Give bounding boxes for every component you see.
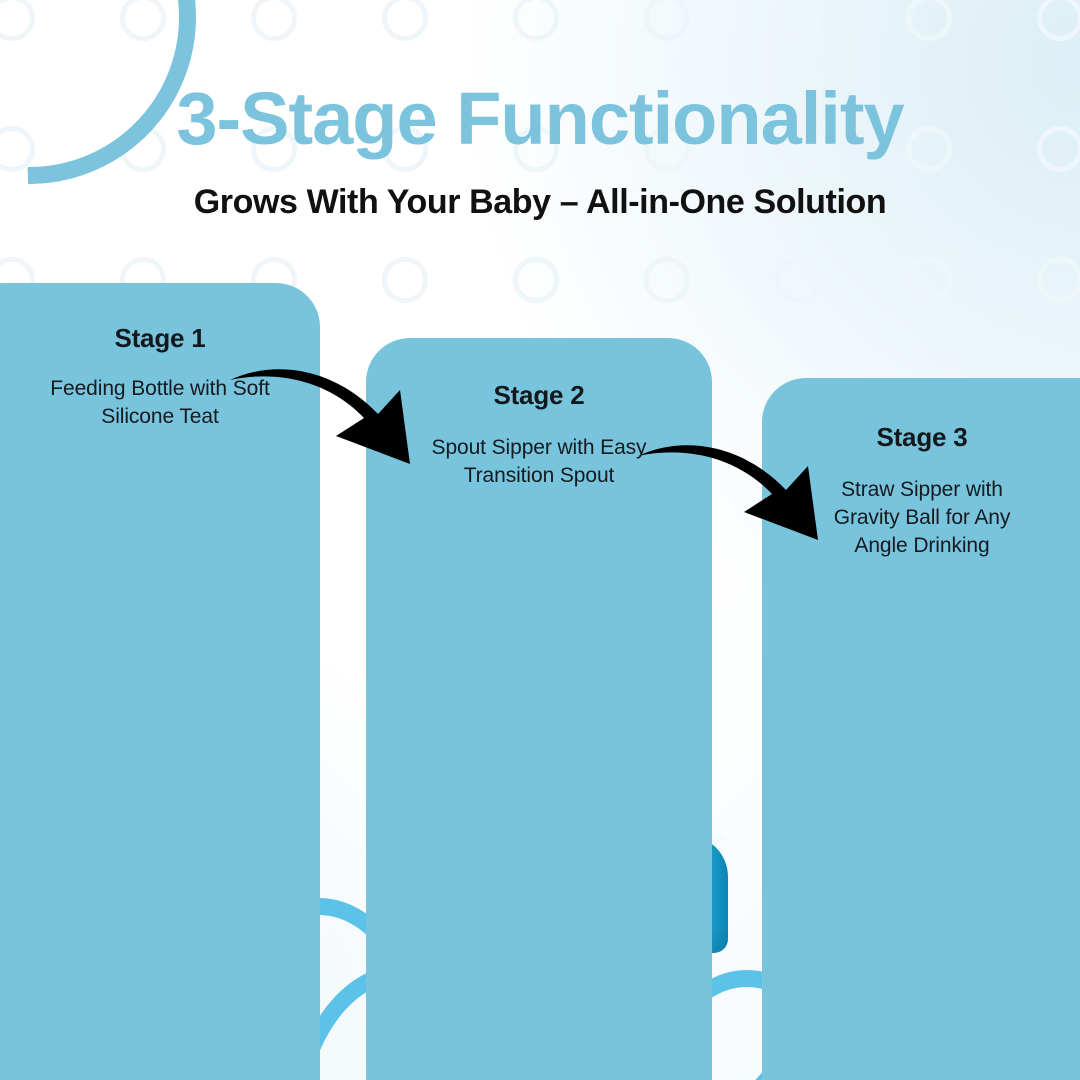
curved-arrow-right-icon <box>228 318 438 468</box>
page-title: 3-Stage Functionality <box>0 82 1080 156</box>
page-subtitle: Grows With Your Baby – All-in-One Soluti… <box>0 185 1080 219</box>
infographic-canvas: 3-Stage Functionality Grows With Your Ba… <box>0 0 1080 1080</box>
curved-arrow-right-icon <box>636 394 846 544</box>
